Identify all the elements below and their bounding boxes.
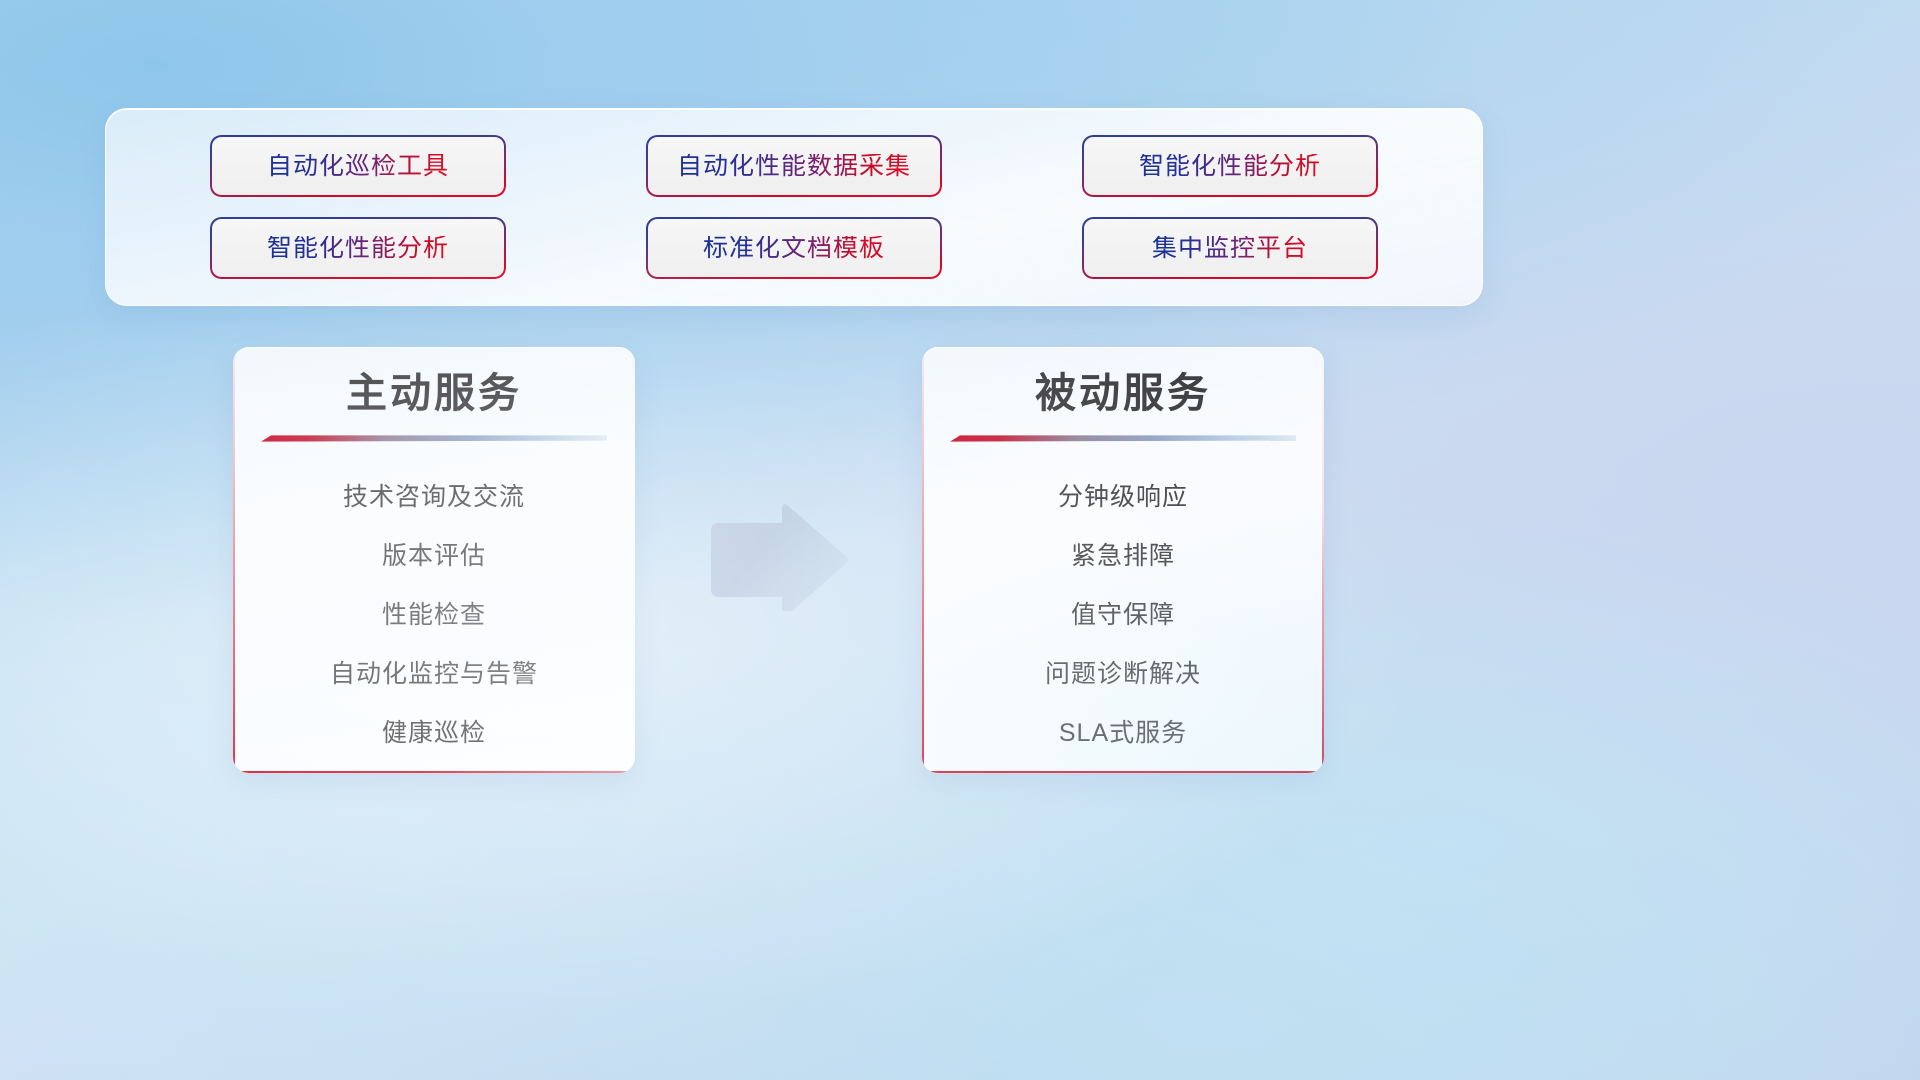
capability-pill-label: 标准化文档模板 xyxy=(703,236,885,261)
capability-pill-label: 集中监控平台 xyxy=(1152,236,1308,261)
capability-pill-label: 智能化性能分析 xyxy=(267,236,449,261)
card-item-list: 技术咨询及交流 版本评估 性能检查 自动化监控与告警 健康巡检 xyxy=(233,465,635,760)
card-title: 被动服务 xyxy=(922,370,1324,417)
list-item: 性能检查 xyxy=(233,583,635,642)
card-title: 主动服务 xyxy=(233,370,635,417)
capability-pill-centralized-monitoring-platform[interactable]: 集中监控平台 xyxy=(1084,219,1376,277)
service-card-proactive[interactable]: 主动服务 技术咨询及交流 版本评估 性能检查 xyxy=(233,347,635,773)
list-item: 自动化监控与告警 xyxy=(233,642,635,701)
list-item: 问题诊断解决 xyxy=(922,642,1324,701)
slide-canvas: 自动化巡检工具 自动化性能数据采集 智能化性能分析 智能化性能分析 标准化文档模… xyxy=(0,0,1920,1080)
flow-arrow-right-icon xyxy=(705,503,851,611)
card-bottom-accent-edge xyxy=(233,771,635,773)
capability-pill-label: 自动化性能数据采集 xyxy=(677,154,911,179)
list-item: SLA式服务 xyxy=(922,701,1324,760)
capability-pill-label: 智能化性能分析 xyxy=(1139,154,1321,179)
list-item: 紧急排障 xyxy=(922,524,1324,583)
list-item: 分钟级响应 xyxy=(922,465,1324,524)
service-card-reactive[interactable]: 被动服务 分钟级响应 紧急排障 值守保障 xyxy=(922,347,1324,773)
list-item: 健康巡检 xyxy=(233,701,635,760)
card-title-divider xyxy=(261,435,607,442)
list-item: 值守保障 xyxy=(922,583,1324,642)
list-item: 版本评估 xyxy=(233,524,635,583)
capability-pill-intelligent-performance-analysis-b[interactable]: 智能化性能分析 xyxy=(212,219,504,277)
capability-pill-intelligent-performance-analysis-a[interactable]: 智能化性能分析 xyxy=(1084,137,1376,195)
card-item-list: 分钟级响应 紧急排障 值守保障 问题诊断解决 SLA式服务 xyxy=(922,465,1324,760)
card-title-divider xyxy=(950,435,1296,442)
capability-pill-standardized-document-template[interactable]: 标准化文档模板 xyxy=(648,219,940,277)
list-item: 技术咨询及交流 xyxy=(233,465,635,524)
card-bottom-accent-edge xyxy=(922,771,1324,773)
capability-pill-automation-performance-data-collection[interactable]: 自动化性能数据采集 xyxy=(648,137,940,195)
capability-panel: 自动化巡检工具 自动化性能数据采集 智能化性能分析 智能化性能分析 标准化文档模… xyxy=(105,108,1483,306)
capability-pill-automation-inspection-tool[interactable]: 自动化巡检工具 xyxy=(212,137,504,195)
capability-pill-label: 自动化巡检工具 xyxy=(267,154,449,179)
